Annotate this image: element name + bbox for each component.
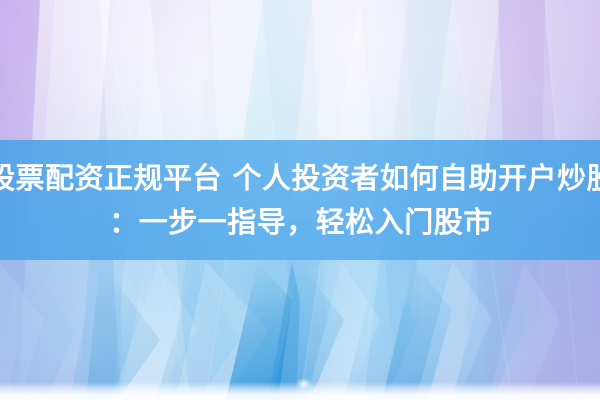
banner-title-line-1: 股票配资正规平台 个人投资者如何自助开户炒股 [0, 156, 600, 200]
promo-banner: 股票配资正规平台 个人投资者如何自助开户炒股 ：一步一指导，轻松入门股市 [0, 0, 600, 400]
title-overlay-band: 股票配资正规平台 个人投资者如何自助开户炒股 ：一步一指导，轻松入门股市 [0, 140, 600, 260]
bottom-sparkle-highlight [296, 378, 312, 390]
banner-title-line-2: ：一步一指导，轻松入门股市 [107, 200, 493, 244]
